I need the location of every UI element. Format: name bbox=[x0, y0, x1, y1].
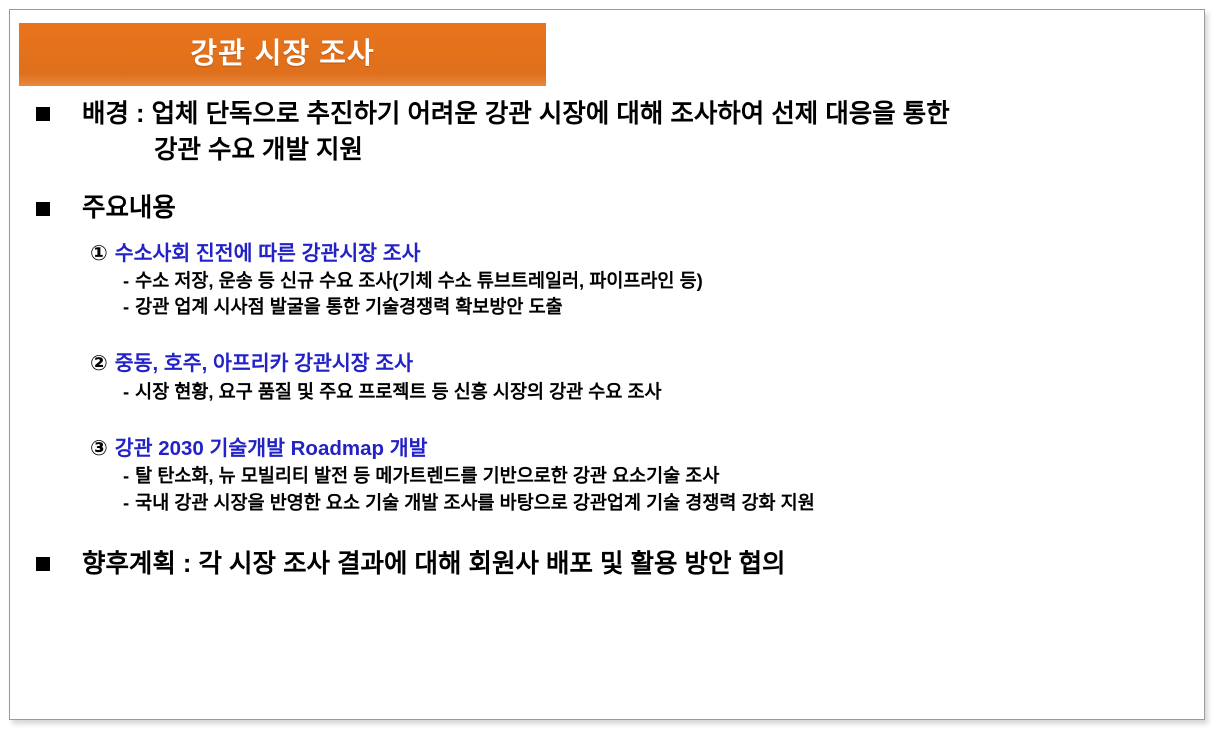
dash-bullet-icon: - bbox=[123, 270, 135, 291]
list-item-2-detail-1: -시장 현황, 요구 품질 및 주요 프로젝트 등 신흥 시장의 강관 수요 조… bbox=[10, 379, 1204, 405]
section-future-plan-label: 향후계획 : bbox=[82, 550, 191, 578]
section-background-line-2: 강관 수요 개발 지원 bbox=[36, 132, 1204, 168]
list-item-3-detail-1: -탈 탄소화, 뉴 모빌리티 발전 등 메가트렌드를 기반으로한 강관 요소기술… bbox=[10, 463, 1204, 489]
list-item-3-title: ③강관 2030 기술개발 Roadmap 개발 bbox=[10, 435, 1204, 463]
list-item-1-detail-2-text: 강관 업계 시사점 발굴을 통한 기술경쟁력 확보방안 도출 bbox=[135, 296, 562, 317]
square-bullet-icon bbox=[36, 107, 50, 121]
slide-body: 배경 : 업체 단독으로 추진하기 어려운 강관 시장에 대해 조사하여 선제 … bbox=[10, 96, 1204, 582]
spacer bbox=[10, 516, 1204, 546]
list-item-1-detail-2: -강관 업계 시사점 발굴을 통한 기술경쟁력 확보방안 도출 bbox=[10, 294, 1204, 320]
spacer bbox=[10, 227, 1204, 240]
square-bullet-icon bbox=[36, 557, 50, 571]
dash-bullet-icon: - bbox=[123, 465, 135, 486]
circled-number-2-icon: ② bbox=[90, 352, 115, 375]
dash-bullet-icon: - bbox=[123, 296, 135, 317]
spacer bbox=[10, 168, 1204, 190]
section-main-contents-label: 주요내용 bbox=[36, 190, 1204, 226]
section-background: 배경 : 업체 단독으로 추진하기 어려운 강관 시장에 대해 조사하여 선제 … bbox=[10, 96, 1204, 168]
list-item-3-label: 강관 2030 기술개발 Roadmap 개발 bbox=[115, 437, 428, 460]
square-bullet-icon bbox=[36, 202, 50, 216]
list-item-1-title: ①수소사회 진전에 따른 강관시장 조사 bbox=[10, 240, 1204, 268]
list-item-3-detail-1-text: 탈 탄소화, 뉴 모빌리티 발전 등 메가트렌드를 기반으로한 강관 요소기술 … bbox=[135, 465, 719, 486]
list-item-2-detail-1-text: 시장 현황, 요구 품질 및 주요 프로젝트 등 신흥 시장의 강관 수요 조사 bbox=[135, 381, 661, 402]
section-future-plan-line-1: 향후계획 : 각 시장 조사 결과에 대해 회원사 배포 및 활용 방안 협의 bbox=[36, 546, 1204, 582]
slide-title-ribbon: 강관 시장 조사 bbox=[19, 23, 546, 86]
slide-title: 강관 시장 조사 bbox=[190, 40, 374, 69]
list-item-3-detail-2: -국내 강관 시장을 반영한 요소 기술 개발 조사를 바탕으로 강관업계 기술… bbox=[10, 490, 1204, 516]
list-item-1-label: 수소사회 진전에 따른 강관시장 조사 bbox=[115, 242, 421, 265]
list-item-1-detail-1-text: 수소 저장, 운송 등 신규 수요 조사(기체 수소 튜브트레일러, 파이프라인… bbox=[135, 270, 703, 291]
spacer bbox=[10, 405, 1204, 435]
circled-number-1-icon: ① bbox=[90, 242, 115, 265]
list-item-3-detail-2-text: 국내 강관 시장을 반영한 요소 기술 개발 조사를 바탕으로 강관업계 기술 … bbox=[135, 492, 815, 513]
circled-number-3-icon: ③ bbox=[90, 437, 115, 460]
section-main-contents-heading: 주요내용 bbox=[10, 190, 1204, 226]
ribbon-band: 강관 시장 조사 bbox=[19, 23, 546, 86]
list-item-2-title: ②중동, 호주, 아프리카 강관시장 조사 bbox=[10, 350, 1204, 378]
section-background-label: 배경 : bbox=[82, 100, 145, 128]
section-background-line-1: 배경 : 업체 단독으로 추진하기 어려운 강관 시장에 대해 조사하여 선제 … bbox=[36, 96, 1204, 132]
list-item-2-label: 중동, 호주, 아프리카 강관시장 조사 bbox=[115, 352, 413, 375]
section-future-plan-text: 각 시장 조사 결과에 대해 회원사 배포 및 활용 방안 협의 bbox=[199, 550, 786, 578]
spacer bbox=[10, 320, 1204, 350]
dash-bullet-icon: - bbox=[123, 492, 135, 513]
section-background-text: 업체 단독으로 추진하기 어려운 강관 시장에 대해 조사하여 선제 대응을 통… bbox=[152, 100, 950, 128]
list-item-1-detail-1: -수소 저장, 운송 등 신규 수요 조사(기체 수소 튜브트레일러, 파이프라… bbox=[10, 268, 1204, 294]
dash-bullet-icon: - bbox=[123, 381, 135, 402]
slide-canvas: 강관 시장 조사 배경 : 업체 단독으로 추진하기 어려운 강관 시장에 대해… bbox=[9, 9, 1205, 720]
section-future-plan: 향후계획 : 각 시장 조사 결과에 대해 회원사 배포 및 활용 방안 협의 bbox=[10, 546, 1204, 582]
